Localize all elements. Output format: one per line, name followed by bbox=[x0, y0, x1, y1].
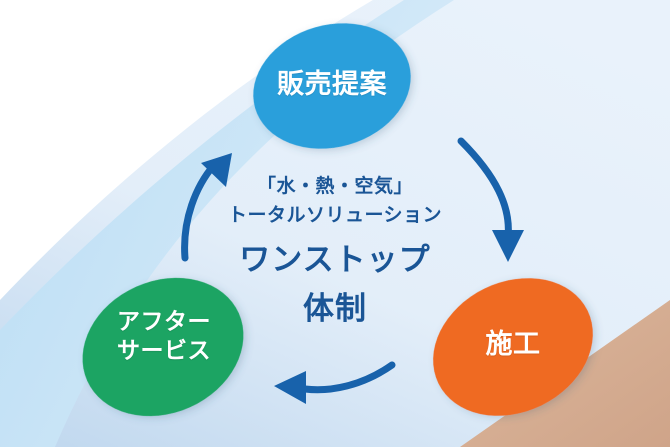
center-line-3: ワンストップ bbox=[185, 241, 485, 280]
center-caption: 「水・熱・空気」 トータルソリューション ワンストップ 体制 bbox=[185, 172, 485, 328]
center-line-4: 体制 bbox=[185, 290, 485, 329]
center-line-1: 「水・熱・空気」 bbox=[185, 172, 485, 201]
node-sales-ellipse[interactable] bbox=[238, 5, 425, 166]
center-line-2: トータルソリューション bbox=[185, 201, 485, 230]
cycle-diagram-canvas: 販売提案 施工 アフター サービス 「水・熱・空気」 トータルソリューション ワ… bbox=[0, 0, 670, 447]
arrow-construction-to-aftersales bbox=[274, 365, 392, 404]
